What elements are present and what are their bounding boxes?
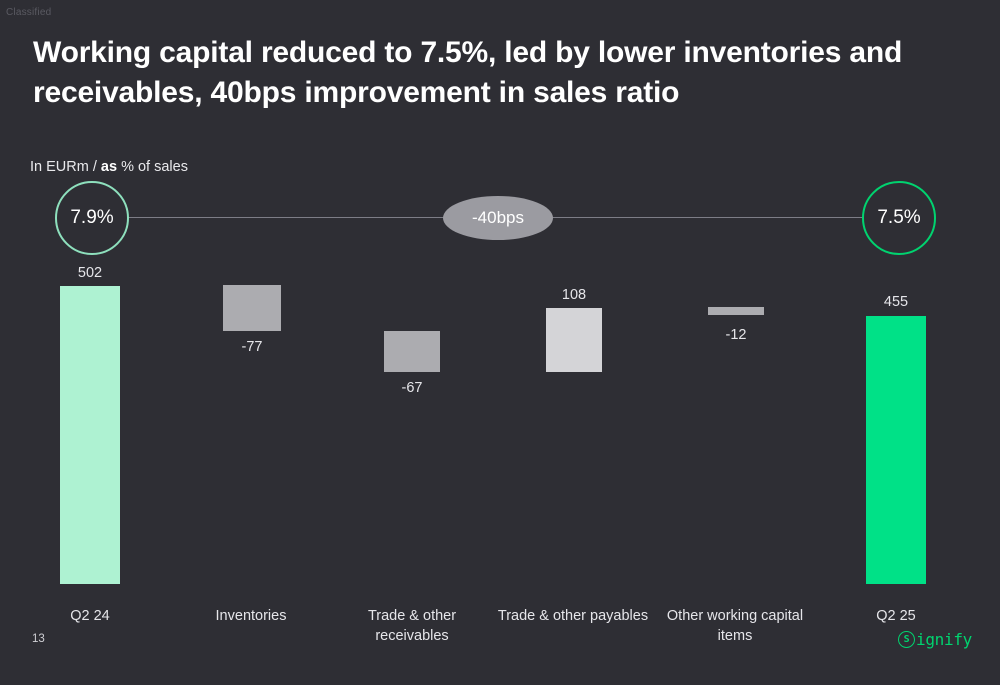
slide-canvas: Classified Working capital reduced to 7.… <box>0 0 1000 685</box>
slide-title: Working capital reduced to 7.5%, led by … <box>33 33 933 113</box>
bar-3 <box>384 331 440 372</box>
bar-value-label-2: -77 <box>192 339 312 355</box>
category-label-2: Inventories <box>171 607 331 627</box>
signify-logo-text: ignify <box>916 630 972 649</box>
subtitle-suffix: % of sales <box>117 159 188 175</box>
category-label-4: Trade & other payables <box>493 607 653 627</box>
bar-4 <box>546 308 602 372</box>
category-label-5: Other working capital items <box>655 607 815 646</box>
ratio-delta-value: -40bps <box>472 208 524 228</box>
bar-value-label-4: 108 <box>514 287 634 303</box>
ratio-badge-start-value: 7.9% <box>70 207 113 229</box>
category-label-3: Trade & other receivables <box>332 607 492 646</box>
bar-value-label-1: 502 <box>30 265 150 281</box>
chart-units-subtitle: In EURm / as % of sales <box>30 159 188 175</box>
ratio-badge-start: 7.9% <box>55 181 129 255</box>
signify-logo: Signify <box>898 630 972 649</box>
page-number: 13 <box>32 633 45 645</box>
bar-2 <box>223 285 281 331</box>
ratio-badge-end: 7.5% <box>862 181 936 255</box>
subtitle-prefix: In EURm / <box>30 159 101 175</box>
signify-logo-mark: S <box>898 631 915 648</box>
bar-value-label-3: -67 <box>352 380 472 396</box>
bar-value-label-5: -12 <box>676 327 796 343</box>
ratio-badge-end-value: 7.5% <box>877 207 920 229</box>
category-label-6: Q2 25 <box>816 607 976 627</box>
subtitle-emphasis: as <box>101 159 117 175</box>
bar-value-label-6: 455 <box>836 294 956 310</box>
bar-6 <box>866 316 926 584</box>
classification-marking: Classified <box>6 7 51 18</box>
bar-5 <box>708 307 764 315</box>
ratio-delta-pill: -40bps <box>443 196 553 240</box>
bar-1 <box>60 286 120 584</box>
category-label-1: Q2 24 <box>10 607 170 627</box>
